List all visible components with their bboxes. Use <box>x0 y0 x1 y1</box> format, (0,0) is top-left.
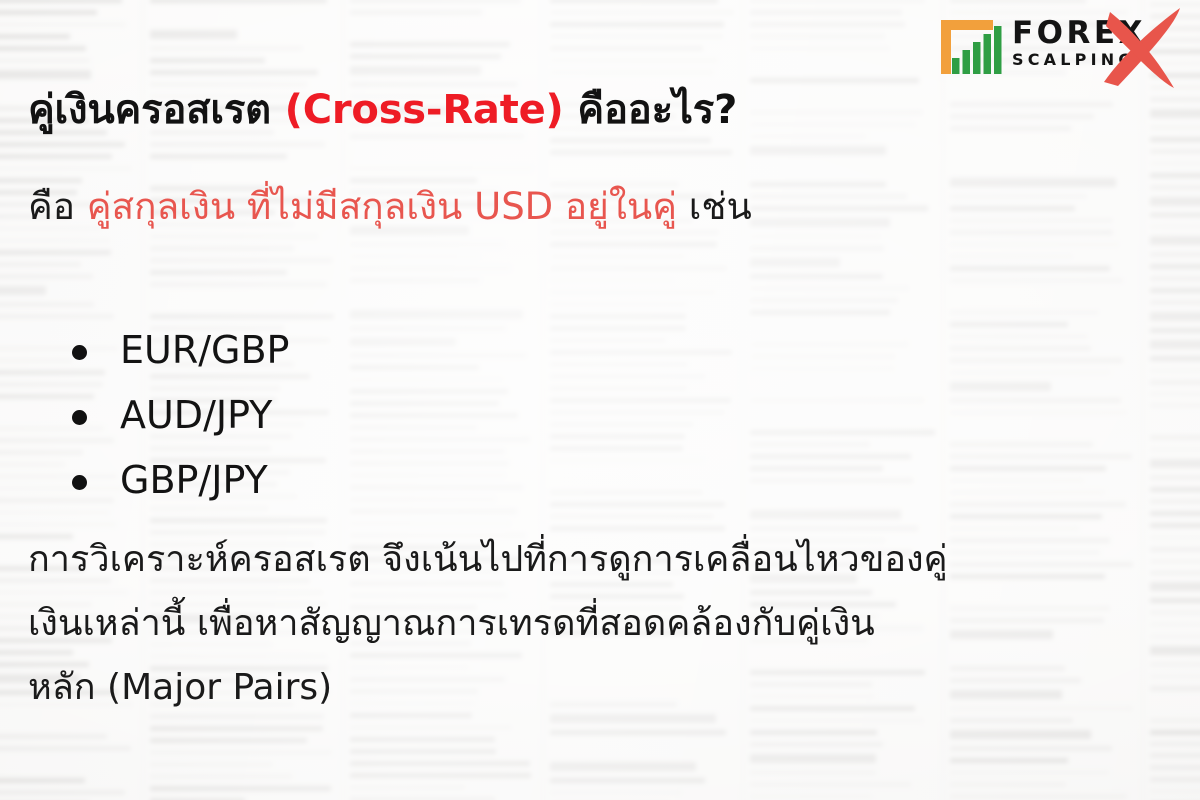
paragraph-line: เงินเหล่านี้ เพื่อหาสัญญาณการเทรดที่สอดค… <box>28 592 1188 656</box>
list-item: GBP/JPY <box>66 448 289 513</box>
subtitle-highlight: คู่สกุลเงิน ที่ไม่มีสกุลเงิน USD อยู่ในค… <box>87 185 677 228</box>
list-item-label: GBP/JPY <box>120 458 268 502</box>
subtitle-part-2: เช่น <box>677 185 752 228</box>
list-item-label: EUR/GBP <box>120 328 289 372</box>
title-part-1: คู่เงินครอสเรต <box>28 87 285 133</box>
paragraph-line: หลัก (Major Pairs) <box>28 656 1188 720</box>
content-area: คู่เงินครอสเรต (Cross-Rate) คืออะไร? คือ… <box>0 0 1200 800</box>
currency-pair-list: EUR/GBP AUD/JPY GBP/JPY <box>66 318 289 513</box>
page-title: คู่เงินครอสเรต (Cross-Rate) คืออะไร? <box>28 84 737 136</box>
list-item: EUR/GBP <box>66 318 289 383</box>
paragraph-line: การวิเคราะห์ครอสเรต จึงเน้นไปที่การดูการ… <box>28 528 1188 592</box>
title-highlight: (Cross-Rate) <box>285 87 564 133</box>
list-item-label: AUD/JPY <box>120 393 272 437</box>
title-part-2: คืออะไร? <box>564 87 737 133</box>
poster-canvas: FOREX SCALPING คู่เงินครอสเรต (Cross-Rat… <box>0 0 1200 800</box>
list-item: AUD/JPY <box>66 383 289 448</box>
subtitle-part-1: คือ <box>28 185 87 228</box>
subtitle: คือ คู่สกุลเงิน ที่ไม่มีสกุลเงิน USD อยู… <box>28 183 752 231</box>
body-paragraph: การวิเคราะห์ครอสเรต จึงเน้นไปที่การดูการ… <box>28 528 1188 720</box>
